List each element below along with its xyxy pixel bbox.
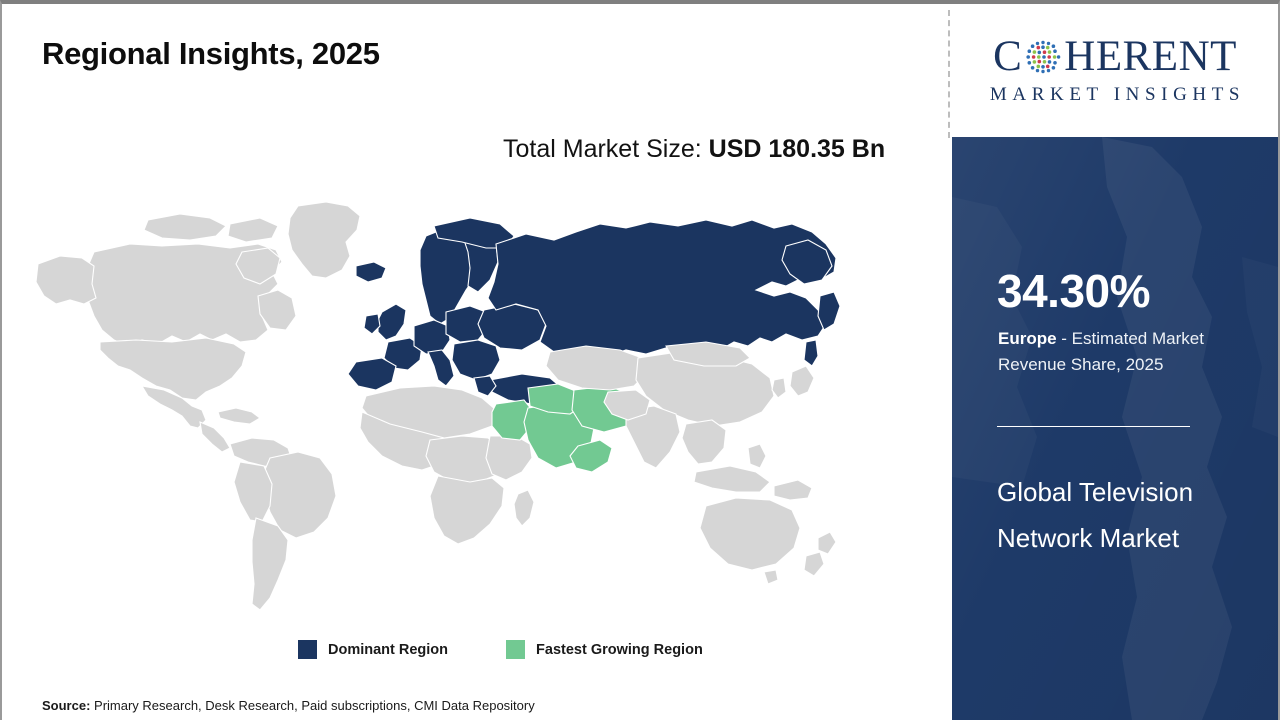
legend-label-fastest-growing: Fastest Growing Region xyxy=(536,642,703,658)
legend-item-dominant: Dominant Region xyxy=(298,640,448,659)
source-label: Source: xyxy=(42,698,90,713)
source-text: Primary Research, Desk Research, Paid su… xyxy=(90,698,534,713)
country-balkans xyxy=(452,340,500,380)
country-caribbean xyxy=(218,408,260,424)
country-east-africa xyxy=(486,436,532,480)
revenue-share-percentage: 34.30% xyxy=(997,268,1150,314)
brand-logo-wordmark: C HERENT xyxy=(993,35,1237,78)
country-new-zealand-south xyxy=(804,552,824,576)
country-italy xyxy=(428,350,454,386)
country-alaska xyxy=(36,256,96,304)
market-title: Global Television Network Market xyxy=(997,470,1247,561)
map-legend: Dominant Region Fastest Growing Region xyxy=(298,640,703,659)
legend-label-dominant: Dominant Region xyxy=(328,642,448,658)
country-papua-new-guinea xyxy=(774,480,812,500)
country-united-states xyxy=(100,338,246,400)
legend-swatch-dominant-icon xyxy=(298,640,317,659)
total-market-size-label: Total Market Size: xyxy=(503,135,709,163)
country-australia xyxy=(700,498,800,570)
country-canada-islands-b xyxy=(228,218,278,242)
country-germany-benelux xyxy=(414,320,450,354)
country-central-america xyxy=(200,422,230,452)
country-argentina-chile xyxy=(252,518,288,610)
country-southern-africa xyxy=(430,476,504,544)
country-philippines xyxy=(748,444,766,468)
insight-panel: 34.30% Europe - Estimated Market Revenue… xyxy=(952,137,1278,720)
legend-item-fastest-growing: Fastest Growing Region xyxy=(506,640,703,659)
revenue-share-description: Europe - Estimated Market Revenue Share,… xyxy=(998,326,1260,378)
country-spain-portugal xyxy=(348,358,396,390)
country-new-zealand xyxy=(818,532,836,554)
country-greenland xyxy=(288,202,360,278)
country-kamchatka xyxy=(818,292,840,330)
slide-root: Regional Insights, 2025 Total Market Siz… xyxy=(0,0,1280,720)
map-countries xyxy=(36,202,840,610)
country-tasmania xyxy=(764,570,778,584)
total-market-size-value: USD 180.35 Bn xyxy=(709,135,885,163)
country-peru-bolivia xyxy=(234,462,272,522)
left-content-pane: Regional Insights, 2025 Total Market Siz… xyxy=(2,4,950,720)
country-japan xyxy=(790,366,814,396)
panel-sheen xyxy=(952,137,1278,720)
country-sakhalin xyxy=(804,340,818,366)
revenue-share-region: Europe xyxy=(998,329,1057,348)
panel-divider xyxy=(997,426,1190,427)
country-southeast-asia xyxy=(682,420,726,464)
page-title: Regional Insights, 2025 xyxy=(42,36,380,72)
brand-logo-tagline: MARKET INSIGHTS xyxy=(985,84,1245,106)
world-map-svg xyxy=(30,200,840,630)
legend-swatch-fastest-growing-icon xyxy=(506,640,525,659)
brand-logo-c: C xyxy=(993,35,1022,78)
brand-logo: C HERENT xyxy=(952,4,1278,137)
country-uk xyxy=(378,304,406,340)
vertical-dashed-divider xyxy=(948,10,950,138)
globe-icon xyxy=(1023,37,1063,77)
brand-logo-herent: HERENT xyxy=(1064,35,1237,78)
right-panel: C HERENT xyxy=(952,4,1278,720)
country-canada-islands-a xyxy=(144,214,226,240)
country-central-asia xyxy=(546,346,646,390)
source-footer: Source: Primary Research, Desk Research,… xyxy=(42,698,535,713)
world-map xyxy=(30,200,840,630)
country-madagascar xyxy=(514,490,534,526)
country-iceland xyxy=(356,262,386,282)
total-market-size: Total Market Size: USD 180.35 Bn xyxy=(503,130,923,169)
country-indonesia xyxy=(694,466,770,492)
